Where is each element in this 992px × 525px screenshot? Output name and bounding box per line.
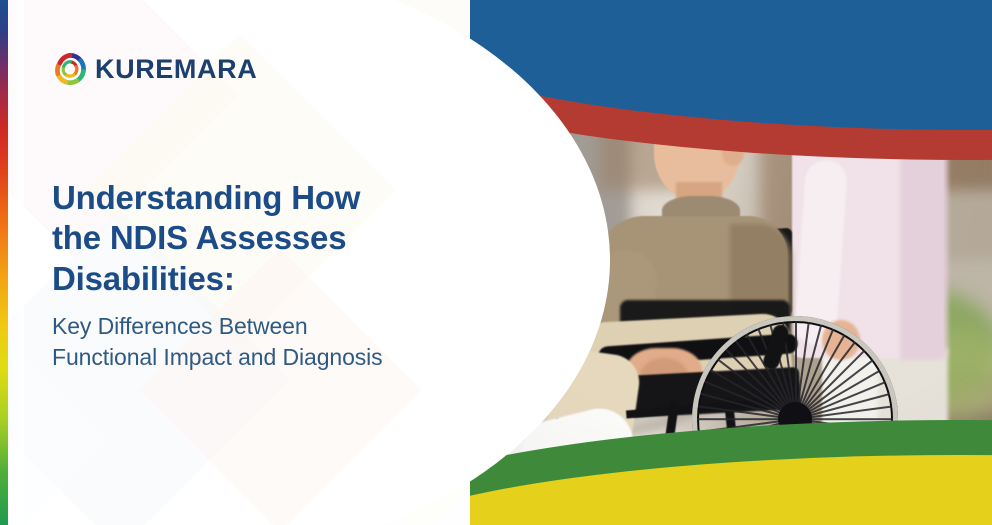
left-strip-fade (8, 0, 24, 525)
brand-logo[interactable]: KUREMARA (52, 51, 257, 87)
headline-line-3: Disabilities: (52, 259, 452, 299)
swirl-logo-icon (52, 51, 88, 87)
headline-line-1: Understanding How (52, 178, 452, 218)
page-subtitle: Key Differences Between Functional Impac… (52, 311, 452, 373)
page-title: Understanding How the NDIS Assesses Disa… (52, 178, 452, 299)
banner-root: KUREMARA Understanding How the NDIS Asse… (0, 0, 992, 525)
brand-name: KUREMARA (95, 56, 257, 83)
headline-line-2: the NDIS Assesses (52, 218, 452, 258)
headline-block: Understanding How the NDIS Assesses Disa… (52, 178, 452, 372)
subheadline-line-2: Functional Impact and Diagnosis (52, 342, 452, 373)
subheadline-line-1: Key Differences Between (52, 311, 452, 342)
left-rainbow-strip (0, 0, 8, 525)
